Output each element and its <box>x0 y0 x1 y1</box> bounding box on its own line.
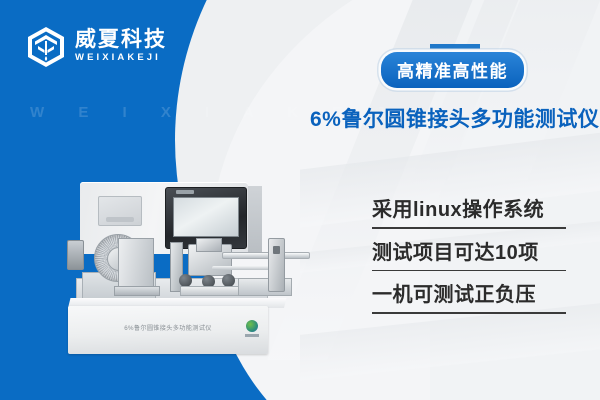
brand-logo: 威夏科技 WEIXIAKEJI <box>26 26 167 68</box>
product-machine-image: 6%鲁尔圆锥接头多功能测试仪 <box>62 182 312 362</box>
brand-text: 威夏科技 WEIXIAKEJI <box>75 29 167 65</box>
product-poster: 威夏科技 WEIXIAKEJI W E I X I A K E J I 高精准高… <box>0 0 600 400</box>
machine-access-plate <box>98 196 142 226</box>
brand-name-cn: 威夏科技 <box>75 29 167 51</box>
feature-divider <box>372 312 566 314</box>
machine-right-bracket <box>268 238 285 292</box>
machine-wheel-mount <box>118 238 154 290</box>
machine-cabinet-side <box>248 186 262 254</box>
machine-fixture-block-top <box>196 238 222 252</box>
certification-logo-text <box>245 334 259 337</box>
machine-wheel-blade <box>67 240 84 270</box>
certification-logo-mark <box>246 320 258 332</box>
screen-display <box>173 197 239 237</box>
machine-shaft <box>222 252 310 259</box>
certification-logo-icon <box>244 318 259 339</box>
hexagon-shield-icon <box>26 26 66 68</box>
machine-base: 6%鲁尔圆锥接头多功能测试仪 <box>68 306 268 354</box>
feature-list: 采用linux操作系统 测试项目可达10项 一机可测试正负压 <box>372 196 568 324</box>
feature-label: 测试项目可达10项 <box>372 239 568 268</box>
feature-label: 采用linux操作系统 <box>372 196 568 225</box>
feature-label: 一机可测试正负压 <box>372 281 568 310</box>
hero-badge: 高精准高性能 <box>381 52 524 88</box>
page-title: 6%鲁尔圆锥接头多功能测试仪 <box>310 103 599 133</box>
screen-brand-strip <box>176 190 194 194</box>
brand-name-en: WEIXIAKEJI <box>75 51 167 65</box>
feature-item: 测试项目可达10项 <box>372 239 568 272</box>
machine-wheel-foot <box>114 286 160 296</box>
feature-divider <box>372 270 566 272</box>
feature-item: 一机可测试正负压 <box>372 281 568 314</box>
feature-divider <box>372 227 566 229</box>
feature-item: 采用linux操作系统 <box>372 196 568 229</box>
background-top-accent-bar <box>430 44 480 49</box>
machine-base-label: 6%鲁尔圆锥接头多功能测试仪 <box>68 323 268 332</box>
